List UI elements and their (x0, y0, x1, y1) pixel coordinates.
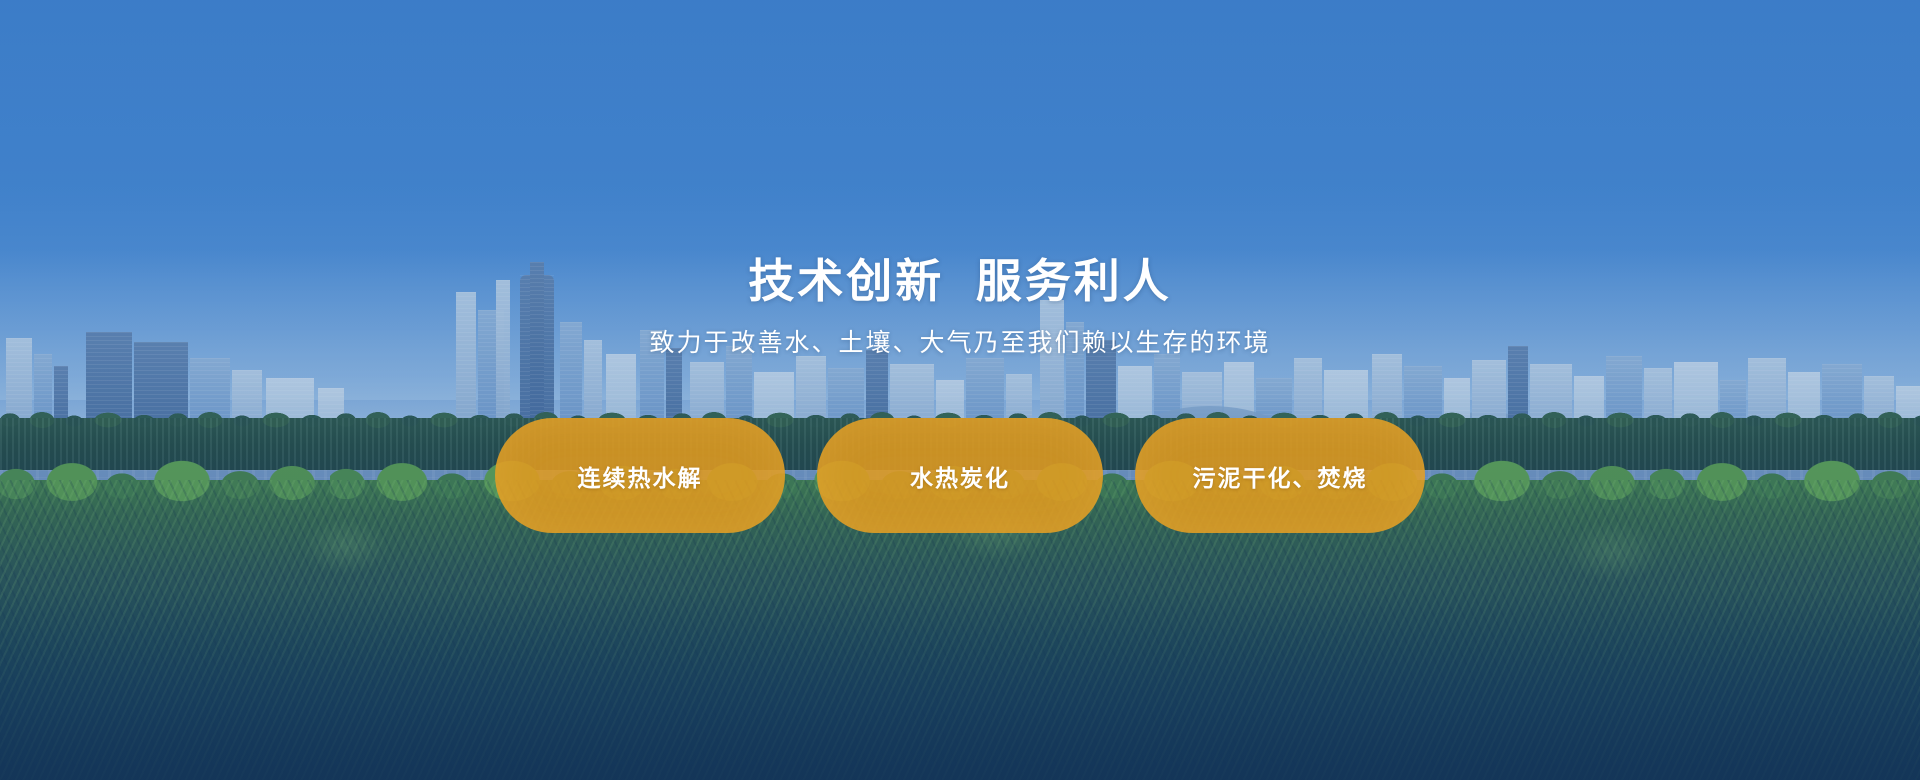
service-pill-continuous-thermal-hydrolysis[interactable]: 连续热水解 (495, 418, 785, 533)
hero-content: 技术创新 服务利人 致力于改善水、土壤、大气乃至我们赖以生存的环境 连续热水解 … (0, 0, 1920, 780)
service-pill-sludge-drying-incineration[interactable]: 污泥干化、焚烧 (1135, 418, 1425, 533)
page-title: 技术创新 服务利人 (748, 258, 1172, 304)
page-subtitle: 致力于改善水、土壤、大气乃至我们赖以生存的环境 (649, 331, 1270, 356)
service-pill-hydrothermal-carbonization[interactable]: 水热炭化 (817, 418, 1103, 533)
service-pill-group: 连续热水解 水热炭化 污泥干化、焚烧 (495, 418, 1425, 533)
hero-banner: 技术创新 服务利人 致力于改善水、土壤、大气乃至我们赖以生存的环境 连续热水解 … (0, 0, 1920, 780)
